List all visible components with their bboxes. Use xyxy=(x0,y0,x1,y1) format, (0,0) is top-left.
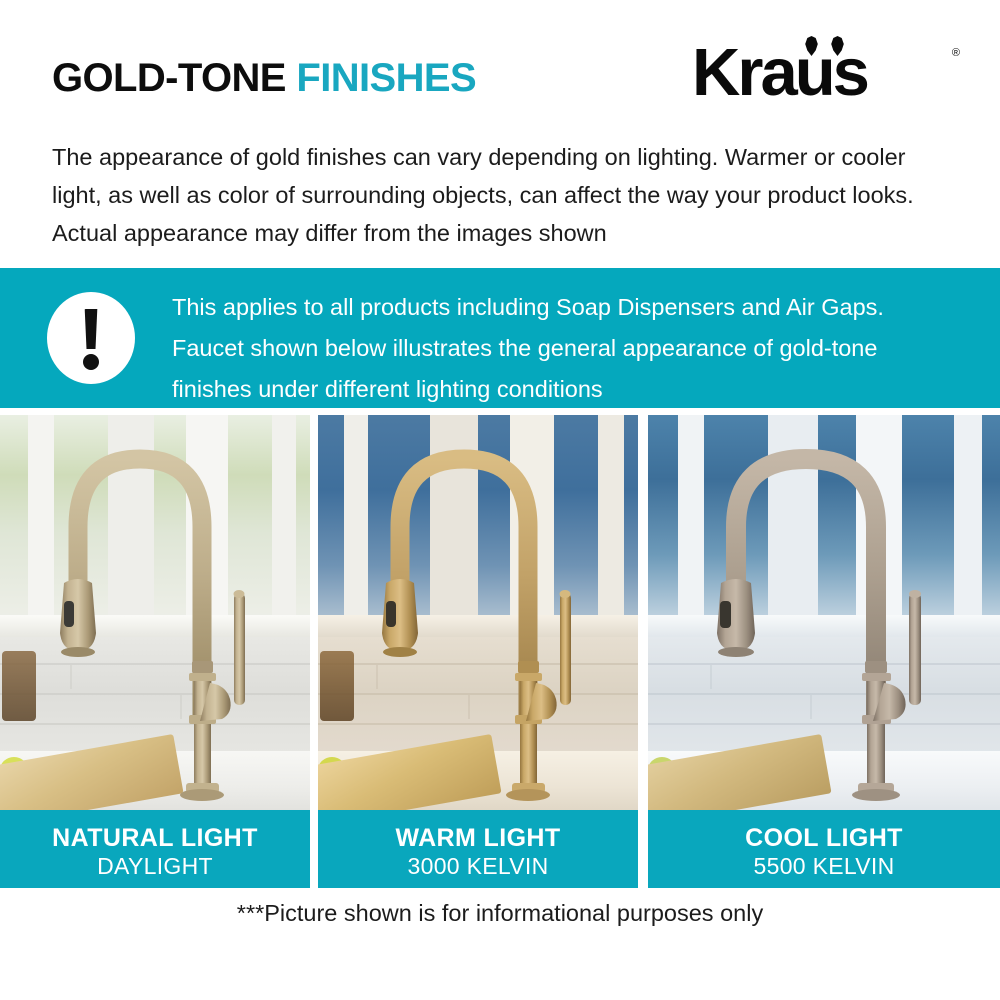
faucet-natural-light xyxy=(0,415,310,810)
exclamation-icon xyxy=(47,292,135,384)
alert-message: This applies to all products including S… xyxy=(172,287,962,410)
caption-primary: WARM LIGHT xyxy=(318,824,638,852)
intro-paragraph: The appearance of gold finishes can vary… xyxy=(52,138,952,252)
photo-natural-light xyxy=(0,415,310,810)
caption-primary: COOL LIGHT xyxy=(648,824,1000,852)
caption-natural-light: NATURAL LIGHT DAYLIGHT xyxy=(0,810,310,888)
registered-trademark-icon: ® xyxy=(952,48,960,59)
panel-natural-light: NATURAL LIGHT DAYLIGHT xyxy=(0,415,310,888)
header: GOLD-TONE FINISHES Kraus ® The appearanc… xyxy=(0,0,1000,268)
caption-cool-light: COOL LIGHT 5500 KELVIN xyxy=(648,810,1000,888)
faucet-cool-light xyxy=(648,415,1000,810)
caption-secondary: 5500 KELVIN xyxy=(648,852,1000,880)
panel-warm-light: WARM LIGHT 3000 KELVIN xyxy=(318,415,638,888)
page-title-dark: GOLD-TONE xyxy=(52,56,286,100)
exclamation-dot xyxy=(83,354,99,370)
footer-disclaimer: ***Picture shown is for informational pu… xyxy=(0,900,1000,927)
panel-cool-light: COOL LIGHT 5500 KELVIN xyxy=(648,415,1000,888)
photo-cool-light xyxy=(648,415,1000,810)
caption-secondary: 3000 KELVIN xyxy=(318,852,638,880)
caption-secondary: DAYLIGHT xyxy=(0,852,310,880)
kraus-logo: Kraus ® xyxy=(692,34,962,112)
caption-primary: NATURAL LIGHT xyxy=(0,824,310,852)
page-title-accent: FINISHES xyxy=(296,56,476,100)
comparison-panels: NATURAL LIGHT DAYLIGHT xyxy=(0,415,1000,888)
faucet-warm-light xyxy=(318,415,638,810)
caption-warm-light: WARM LIGHT 3000 KELVIN xyxy=(318,810,638,888)
page-title: GOLD-TONE FINISHES xyxy=(52,58,476,98)
photo-warm-light xyxy=(318,415,638,810)
exclamation-bar xyxy=(84,309,99,349)
